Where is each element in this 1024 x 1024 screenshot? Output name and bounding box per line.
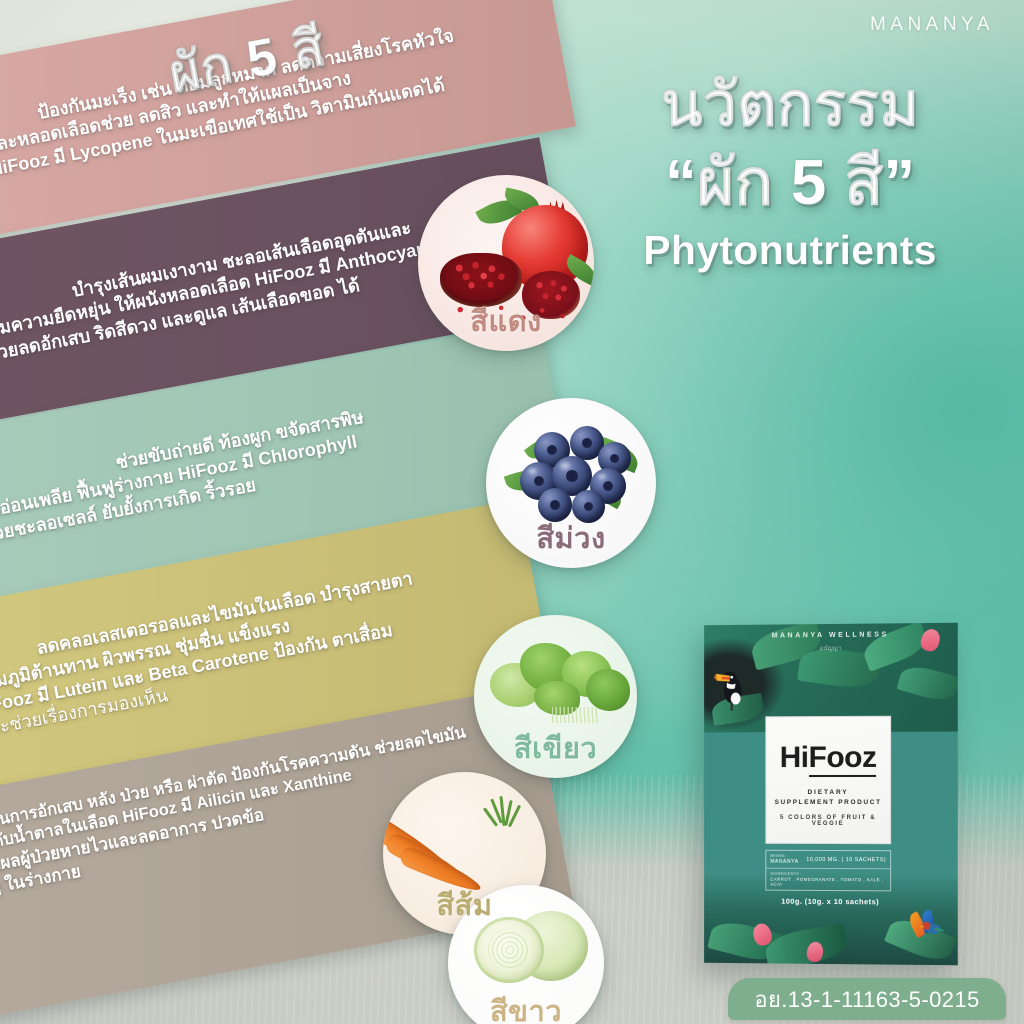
product-logo: HiFooz [766, 741, 890, 775]
product-spec-table: BRAND: MANANYA 10,000 MG. ( 10 SACHETS) … [765, 850, 891, 892]
fda-registration-badge: อย.13-1-11163-5-0215 [728, 978, 1006, 1020]
badge-red-label: สีแดง [470, 298, 541, 351]
product-spec-ing-key: INGREDIENTS : [770, 872, 886, 877]
toucan-icon [714, 665, 748, 713]
product-arc-text: 5 COLORS OF FRUIT & VEGGIE [766, 815, 890, 827]
product-spec-amount: 10,000 MG. ( 10 SACHETS) [806, 856, 886, 862]
badge-red: สีแดง [418, 175, 594, 351]
product-front-label: HiFooz DIETARY SUPPLEMENT PRODUCT 5 COLO… [765, 716, 891, 844]
product-spec-row-brand: BRAND: MANANYA 10,000 MG. ( 10 SACHETS) [766, 851, 890, 869]
product-spec-brand-key: BRAND: [770, 854, 798, 858]
infographic-canvas: MANANYA นวัตกรรม “ผัก 5 สี” Phytonutrien… [0, 0, 1024, 1024]
product-spec-row-ingredients: INGREDIENTS : CARROT , POMEGRANATE , TOM… [766, 869, 890, 891]
product-net-weight: 100g. (10g. x 10 sachets) [704, 896, 958, 907]
badge-orange-label: สีส้ม [436, 882, 492, 935]
product-box: MANANYA WELLNESS มนัญญา HiFooz DIETARY S… [704, 623, 958, 966]
badge-green: สีเขียว [474, 615, 637, 778]
badge-purple: สีม่วง [486, 398, 656, 568]
badge-white-label: สีขาว [490, 988, 562, 1024]
badge-green-label: สีเขียว [514, 725, 597, 778]
product-type-line-2: SUPPLEMENT PRODUCT [766, 799, 890, 806]
product-spec-ing-value: CARROT , POMEGRANATE , TOMATO , KALE , A… [770, 877, 886, 888]
product-spec-brand-value: MANANYA [770, 859, 798, 865]
bird-icon [919, 917, 945, 939]
product-brand-sub: มนัญญา [704, 642, 958, 654]
product-type-line-1: DIETARY [766, 789, 890, 796]
badge-purple-label: สีม่วง [536, 515, 605, 568]
